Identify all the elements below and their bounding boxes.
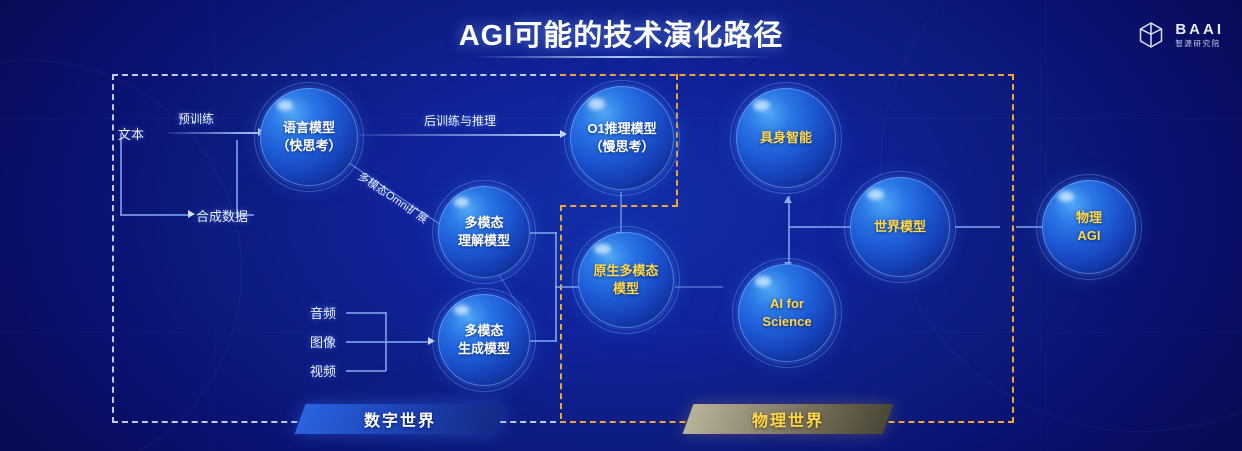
node-multimodal-understanding-model-line2: 理解模型 <box>458 232 510 250</box>
node-ai-for-science[interactable]: AI for Science <box>738 264 836 362</box>
node-language-model[interactable]: 语言模型 （快思考） <box>260 88 358 186</box>
node-embodied-intelligence-line1: 具身智能 <box>760 129 812 147</box>
input-label-synthetic-data: 合成数据 <box>196 206 248 225</box>
node-world-model[interactable]: 世界模型 <box>850 177 950 277</box>
node-multimodal-understanding-model-line1: 多模态 <box>458 214 510 232</box>
node-multimodal-generation-model-line2: 生成模型 <box>458 340 510 358</box>
node-physical-agi-line2: AGI <box>1076 227 1102 245</box>
node-o1-reasoning-model-line2: （慢思考） <box>587 138 656 156</box>
edge-language-model-to-o1 <box>360 134 565 136</box>
node-language-model-line2: （快思考） <box>276 137 341 155</box>
node-ai-for-science-line1: AI for <box>762 295 811 313</box>
banner-digital-world-label: 数字世界 <box>364 407 436 431</box>
logo-wordmark-bottom: 智源研究院 <box>1175 40 1224 48</box>
node-embodied-intelligence[interactable]: 具身智能 <box>736 88 836 188</box>
edge-bracket-to-world-model <box>788 226 850 228</box>
node-physical-agi[interactable]: 物理 AGI <box>1042 180 1136 274</box>
node-native-multimodal-model[interactable]: 原生多模态 模型 <box>578 232 674 328</box>
input-label-audio: 音频 <box>310 303 336 322</box>
edge-video-out <box>346 370 386 372</box>
banner-physical-world: 物理世界 <box>688 404 888 434</box>
page-title: AGI可能的技术演化路径 <box>0 12 1242 54</box>
node-ai-for-science-line2: Science <box>762 313 811 331</box>
edge-label-pretraining: 预训练 <box>178 110 214 127</box>
banner-physical-world-label: 物理世界 <box>752 407 824 431</box>
region-physical-frame-step-edge <box>560 205 678 207</box>
edge-bracket-left-vertical <box>120 133 122 215</box>
edge-arrow <box>784 196 792 203</box>
node-o1-reasoning-model[interactable]: O1推理模型 （慢思考） <box>570 86 674 190</box>
node-multimodal-understanding-model[interactable]: 多模态 理解模型 <box>438 186 530 278</box>
diagram-canvas: AGI可能的技术演化路径 BAAI 智源研究院 <box>0 0 1242 451</box>
edge-text-to-language-model <box>168 132 264 134</box>
logo-wordmark-top: BAAI <box>1175 22 1224 37</box>
title-underline <box>471 56 771 58</box>
logo-wordmark: BAAI 智源研究院 <box>1175 22 1224 48</box>
input-label-image: 图像 <box>310 332 336 351</box>
node-o1-reasoning-model-line1: O1推理模型 <box>587 120 656 138</box>
edge-world-model-to-physical-agi <box>955 226 1000 228</box>
node-multimodal-generation-model-line1: 多模态 <box>458 322 510 340</box>
input-label-text: 文本 <box>118 124 144 143</box>
edge-label-posttraining-and-reasoning: 后训练与推理 <box>424 112 496 129</box>
node-native-multimodal-model-line1: 原生多模态 <box>593 262 658 280</box>
edge-native-multimodal-to-physical <box>675 286 723 288</box>
edge-synthetic-data-riser <box>236 140 238 214</box>
node-multimodal-generation-model[interactable]: 多模态 生成模型 <box>438 294 530 386</box>
node-language-model-line1: 语言模型 <box>276 119 341 137</box>
node-native-multimodal-model-line2: 模型 <box>593 280 658 298</box>
input-label-video: 视频 <box>310 361 336 380</box>
baai-logo: BAAI 智源研究院 <box>1136 20 1224 50</box>
edge-bracket-left-bottom <box>120 214 192 216</box>
region-physical-frame-lower-left-edge <box>560 205 562 419</box>
edge-image-out <box>346 341 432 343</box>
node-physical-agi-line1: 物理 <box>1076 209 1102 227</box>
edge-arrow <box>188 210 195 218</box>
cube-icon <box>1136 20 1166 50</box>
banner-digital-world: 数字世界 <box>300 404 500 434</box>
edge-media-bracket-vertical <box>385 312 387 371</box>
edge-audio-out <box>346 312 386 314</box>
node-world-model-line1: 世界模型 <box>874 218 926 236</box>
